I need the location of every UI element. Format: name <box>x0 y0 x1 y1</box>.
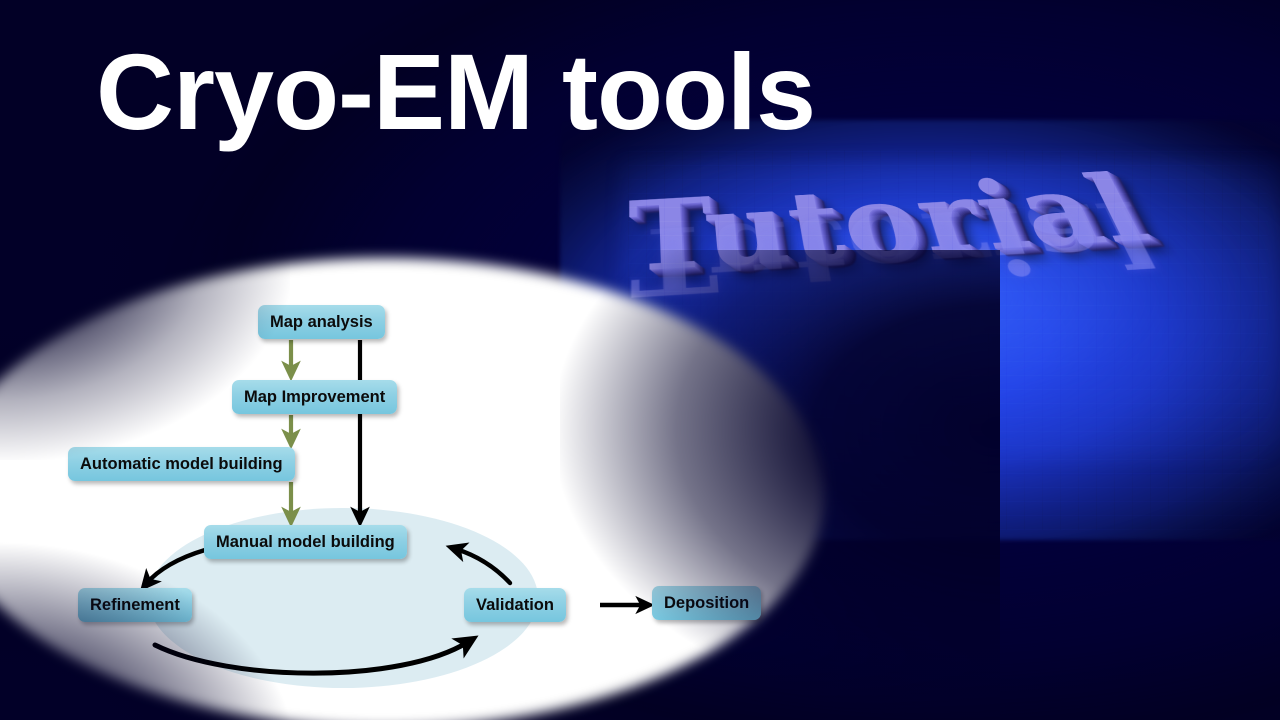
node-manual-model-building[interactable]: Manual model building <box>204 525 407 559</box>
node-deposition[interactable]: Deposition <box>652 586 761 620</box>
node-automatic-model-building[interactable]: Automatic model building <box>68 447 295 481</box>
cryo-em-workflow-diagram: Map analysis Map Improvement Automatic m… <box>0 270 820 720</box>
node-map-analysis[interactable]: Map analysis <box>258 305 385 339</box>
slide-canvas: Tutorial Tutorial Cryo-EM tools <box>0 0 1280 720</box>
node-refinement[interactable]: Refinement <box>78 588 192 622</box>
page-title: Cryo-EM tools <box>96 30 815 154</box>
node-validation[interactable]: Validation <box>464 588 566 622</box>
node-map-improvement[interactable]: Map Improvement <box>232 380 397 414</box>
